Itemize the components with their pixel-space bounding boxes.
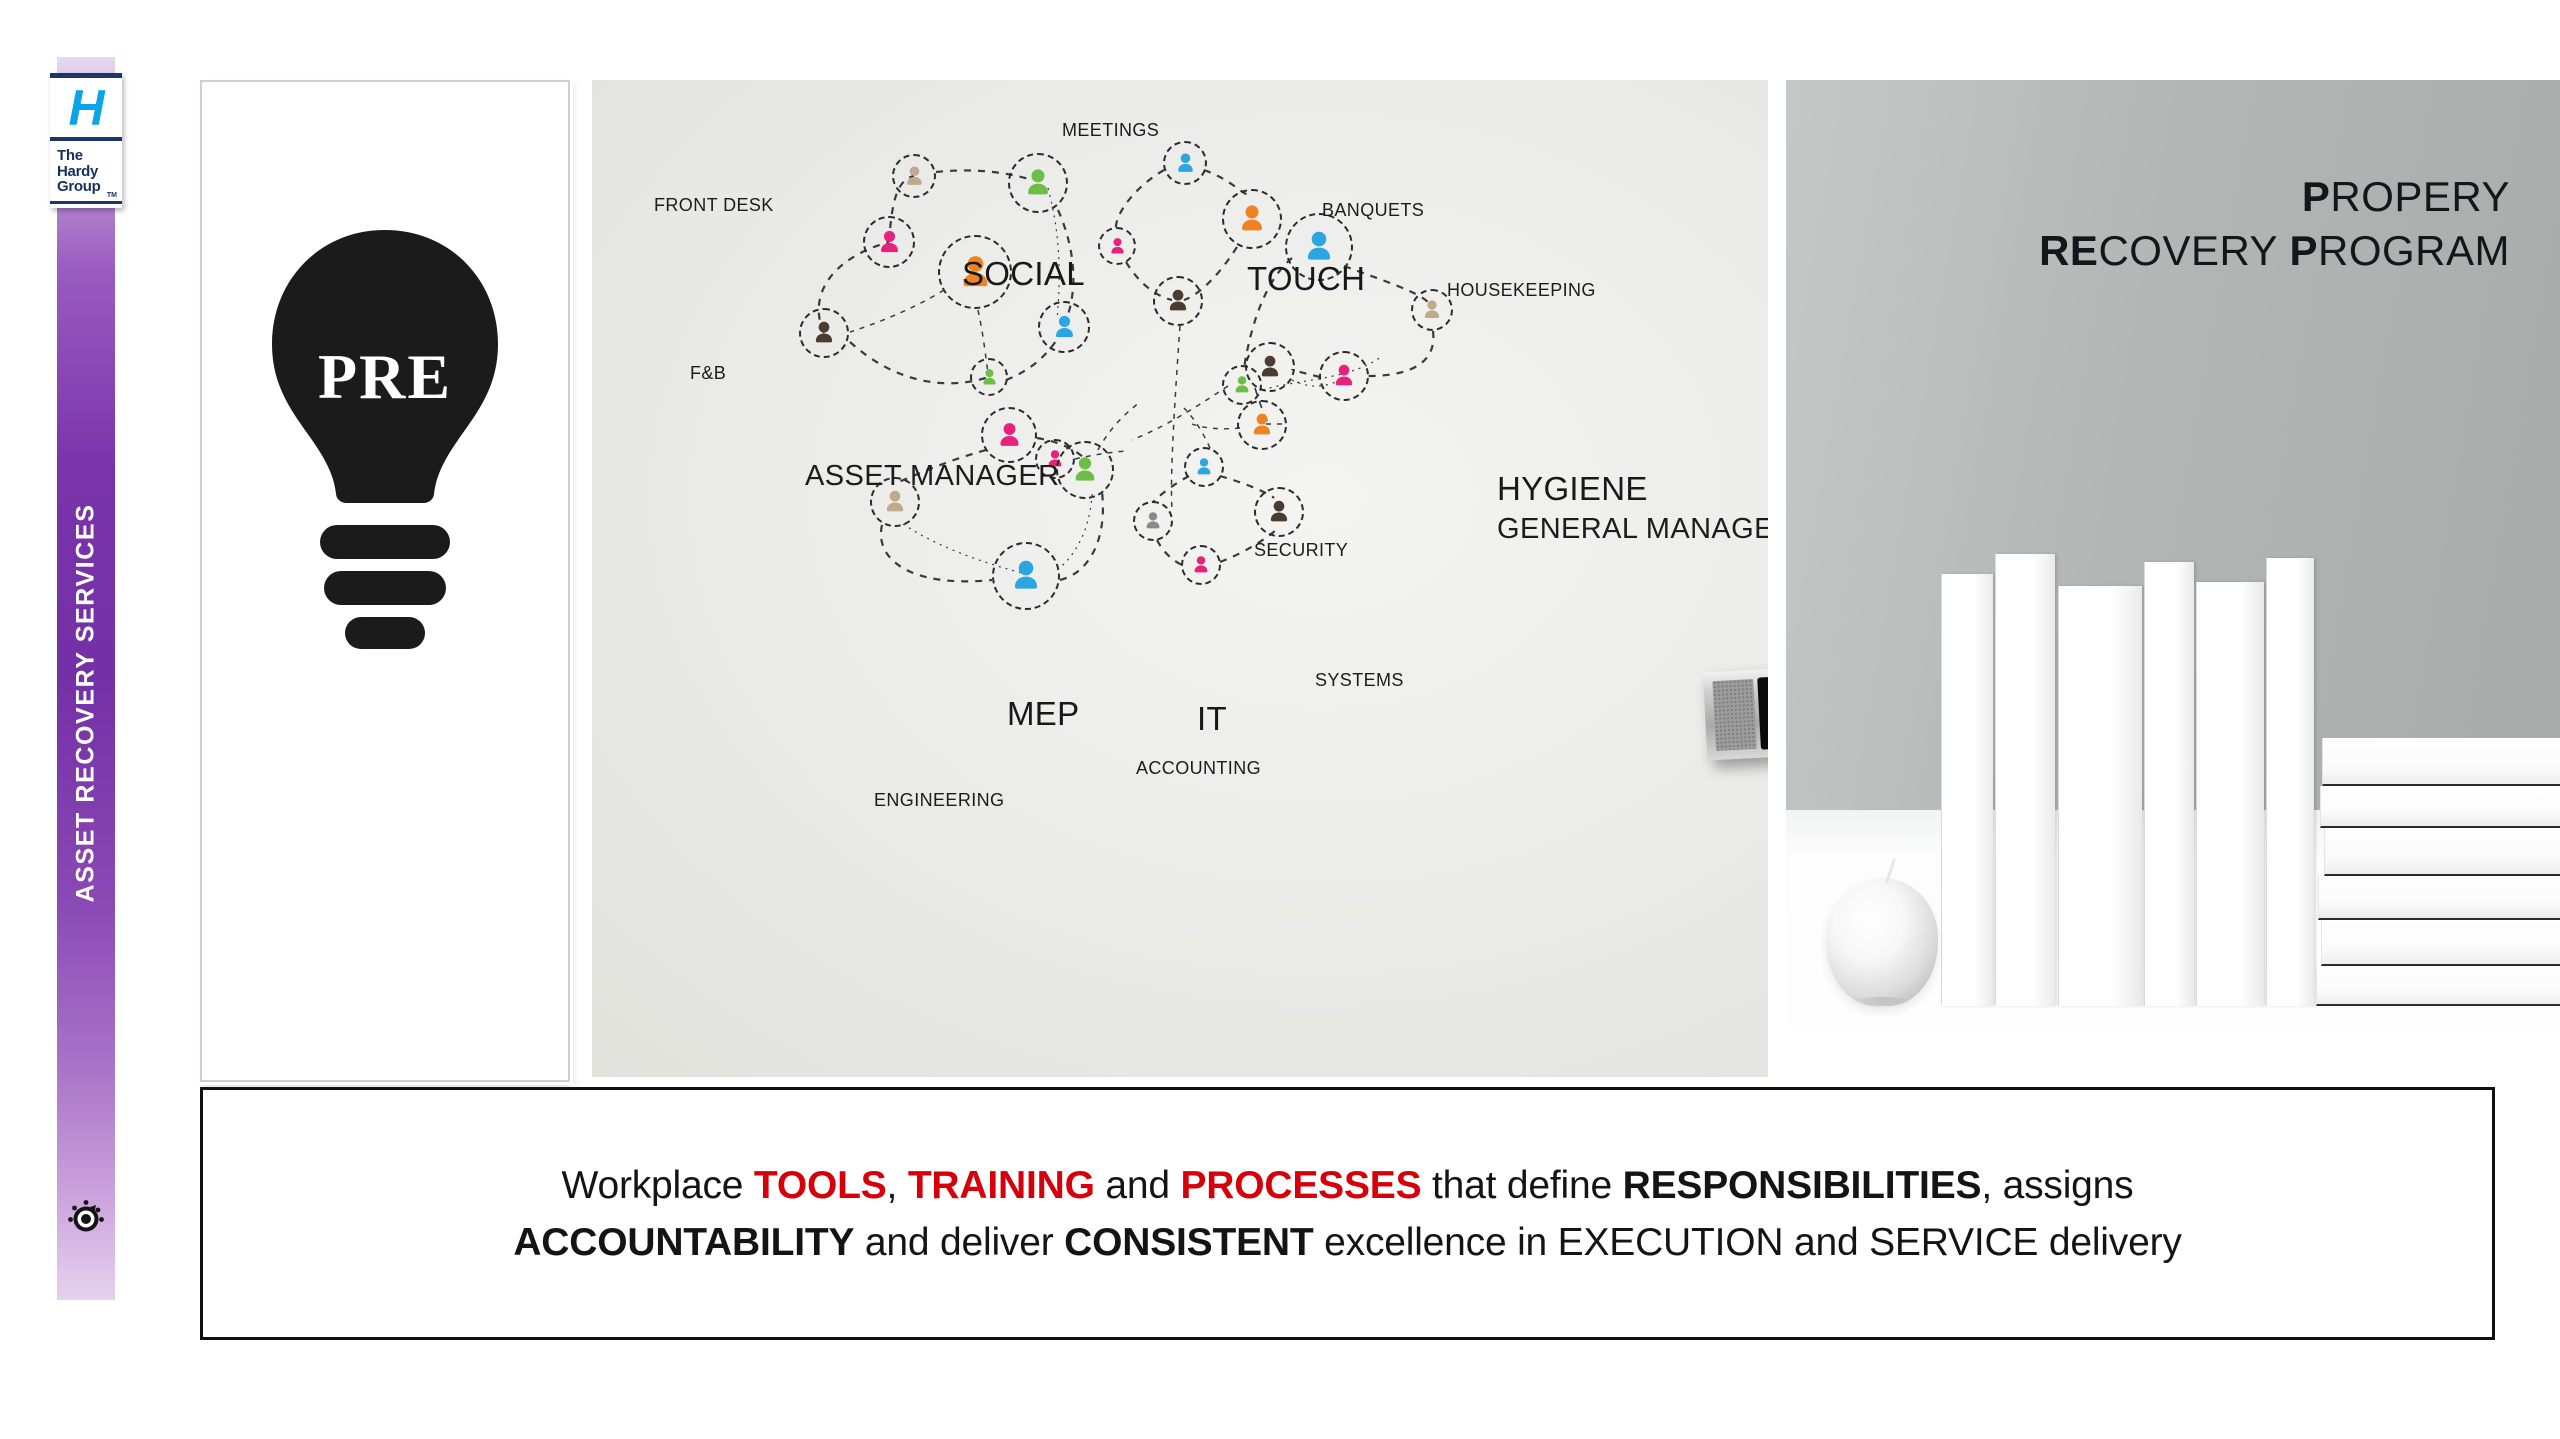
logo-line-the: The: [57, 148, 122, 164]
title-bold-p: P: [2302, 173, 2331, 220]
caption-responsibilities: RESPONSIBILITIES: [1623, 1164, 1982, 1207]
standing-book: [2058, 586, 2142, 1006]
person-glyph: [1265, 498, 1293, 526]
person-node-icon[interactable]: [1245, 342, 1295, 392]
node-label-accounting: ACCOUNTING: [1136, 758, 1261, 779]
person-glyph: [994, 420, 1025, 451]
stacked-book: [2322, 738, 2560, 786]
slide-canvas: H The Hardy Group TM ASSET RECOVERY SERV…: [0, 0, 2560, 1439]
lightbulb-icon: PRE: [260, 222, 510, 672]
person-node-icon[interactable]: [981, 407, 1037, 463]
person-node-icon[interactable]: [1184, 447, 1224, 487]
person-glyph: [1190, 554, 1212, 576]
person-glyph: [1248, 411, 1276, 439]
trademark-mark: TM: [107, 192, 117, 199]
page-title-line-1: PROPERY: [2039, 170, 2510, 224]
title-rest-propery: ROPERY: [2330, 173, 2510, 220]
caption-tail-2: excellence in EXECUTION and SERVICE deli…: [1314, 1221, 2182, 1264]
caption-line-2: ACCOUNTABILITY and deliver CONSISTENT ex…: [513, 1214, 2181, 1271]
person-glyph: [875, 228, 904, 257]
person-glyph: [1107, 236, 1128, 257]
caption-seg-workplace: Workplace: [562, 1164, 754, 1207]
person-glyph: [1173, 151, 1198, 176]
caption-sep-2: and: [1095, 1164, 1181, 1207]
harp-database-device[interactable]: HARP database HAL 9000: [1703, 660, 1768, 761]
person-node-icon[interactable]: [1038, 301, 1090, 353]
caption-line-1: Workplace TOOLS, TRAINING and PROCESSES …: [562, 1157, 2134, 1214]
person-glyph: [1069, 454, 1101, 486]
stacked-book: [2324, 828, 2560, 876]
person-node-icon[interactable]: [1008, 153, 1068, 213]
harp-screen: HARP database HAL 9000: [1757, 668, 1768, 750]
person-glyph: [902, 164, 927, 189]
title-bold-p2: P: [2289, 227, 2318, 274]
person-glyph: [1142, 510, 1164, 532]
person-glyph: [1330, 362, 1358, 390]
node-label-f-b: F&B: [690, 363, 726, 384]
person-glyph: [1050, 313, 1079, 342]
person-glyph: [979, 367, 1000, 388]
standing-book: [2266, 558, 2314, 1006]
title-rest-rogram: ROGRAM: [2318, 227, 2510, 274]
node-label-engineering: ENGINEERING: [874, 790, 1004, 811]
caption-tools: TOOLS: [754, 1164, 887, 1207]
person-node-icon[interactable]: [1181, 545, 1221, 585]
node-label-banquets: BANQUETS: [1322, 200, 1424, 221]
person-node-icon[interactable]: [892, 154, 936, 198]
person-node-icon[interactable]: [799, 308, 849, 358]
bulb-panel: PRE: [200, 80, 570, 1082]
harp-body: HARP database HAL 9000: [1703, 660, 1768, 761]
sidebar-vertical-label: ASSET RECOVERY SERVICES: [72, 504, 101, 903]
logo-line-hardy: Hardy: [57, 164, 122, 180]
person-glyph: [1164, 287, 1192, 315]
caption-sep-3: that define: [1421, 1164, 1622, 1207]
person-node-icon[interactable]: [1098, 227, 1136, 265]
hardy-group-logo: H The Hardy Group TM: [50, 73, 122, 208]
photo-panel: PROPERY RECOVERY PROGRAM: [1786, 80, 2560, 1078]
cluster-title-mep: MEP: [1007, 695, 1079, 733]
person-node-icon[interactable]: [1319, 351, 1369, 401]
standing-book: [1995, 554, 2055, 1006]
person-node-icon[interactable]: [1133, 501, 1173, 541]
caption-consistent: CONSISTENT: [1064, 1221, 1313, 1264]
cluster-title-social: SOCIAL: [962, 255, 1085, 293]
logo-h-letter: H: [68, 83, 103, 133]
person-glyph: [1007, 557, 1045, 595]
caption-box: Workplace TOOLS, TRAINING and PROCESSES …: [200, 1087, 2495, 1340]
bulb-label: PRE: [318, 340, 452, 414]
caption-accountability: ACCOUNTABILITY: [513, 1221, 854, 1264]
stacked-book: [2316, 966, 2560, 1006]
target-eye-icon: [63, 1194, 109, 1240]
person-glyph: [810, 319, 838, 347]
cluster-title-touch: TOUCH: [1247, 260, 1365, 298]
caption-sep-1: ,: [887, 1164, 908, 1207]
node-label-general-manager: GENERAL MANAGER: [1497, 513, 1768, 546]
node-label-systems: SYSTEMS: [1315, 670, 1404, 691]
person-node-icon[interactable]: [1163, 141, 1207, 185]
white-apple: [1826, 878, 1938, 1006]
stacked-book: [2320, 786, 2560, 828]
person-glyph: [1193, 456, 1215, 478]
node-label-meetings: MEETINGS: [1062, 120, 1159, 141]
caption-training: TRAINING: [908, 1164, 1095, 1207]
person-node-icon[interactable]: [992, 542, 1060, 610]
title-bold-re: RE: [2039, 227, 2098, 274]
person-node-icon[interactable]: [863, 216, 915, 268]
caption-processes: PROCESSES: [1180, 1164, 1421, 1207]
network-diagram-panel: SOCIALTOUCHHYGIENEMEPIT MEETINGSFRONT DE…: [592, 80, 1768, 1077]
caption-sep-4: and deliver: [854, 1221, 1064, 1264]
node-label-front-desk: FRONT DESK: [654, 195, 774, 216]
person-node-icon[interactable]: [1056, 441, 1114, 499]
network-edges: [592, 80, 1768, 1077]
person-glyph: [1021, 166, 1055, 200]
node-label-asset-manager: ASSET MANAGER: [805, 460, 1059, 493]
person-node-icon[interactable]: [1237, 400, 1287, 450]
logo-wordmark-box: The Hardy Group TM: [50, 141, 122, 204]
speaker-grille-icon: [1712, 679, 1757, 751]
left-sidebar: H The Hardy Group TM ASSET RECOVERY SERV…: [57, 57, 115, 1300]
cluster-title-it: IT: [1197, 700, 1227, 738]
person-node-icon[interactable]: [1254, 487, 1304, 537]
standing-book: [1941, 574, 1993, 1006]
person-node-icon[interactable]: [970, 358, 1008, 396]
node-label-housekeeping: HOUSEKEEPING: [1447, 280, 1596, 301]
standing-book: [2144, 562, 2194, 1006]
page-title-line-2: RECOVERY PROGRAM: [2039, 224, 2510, 278]
stacked-book: [2318, 876, 2560, 920]
person-glyph: [1256, 353, 1284, 381]
cluster-title-hygiene: HYGIENE: [1497, 470, 1648, 508]
standing-book: [2196, 582, 2264, 1006]
node-label-security: SECURITY: [1254, 540, 1348, 561]
stacked-book: [2321, 920, 2560, 966]
person-glyph: [1420, 298, 1444, 322]
person-node-icon[interactable]: [1153, 276, 1203, 326]
logo-mark-box: H: [50, 73, 122, 141]
person-glyph: [1235, 202, 1269, 236]
caption-tail-1: , assigns: [1981, 1164, 2133, 1207]
person-node-icon[interactable]: [1222, 189, 1282, 249]
page-title: PROPERY RECOVERY PROGRAM: [2039, 170, 2510, 278]
title-mid-covery: COVERY: [2098, 227, 2289, 274]
